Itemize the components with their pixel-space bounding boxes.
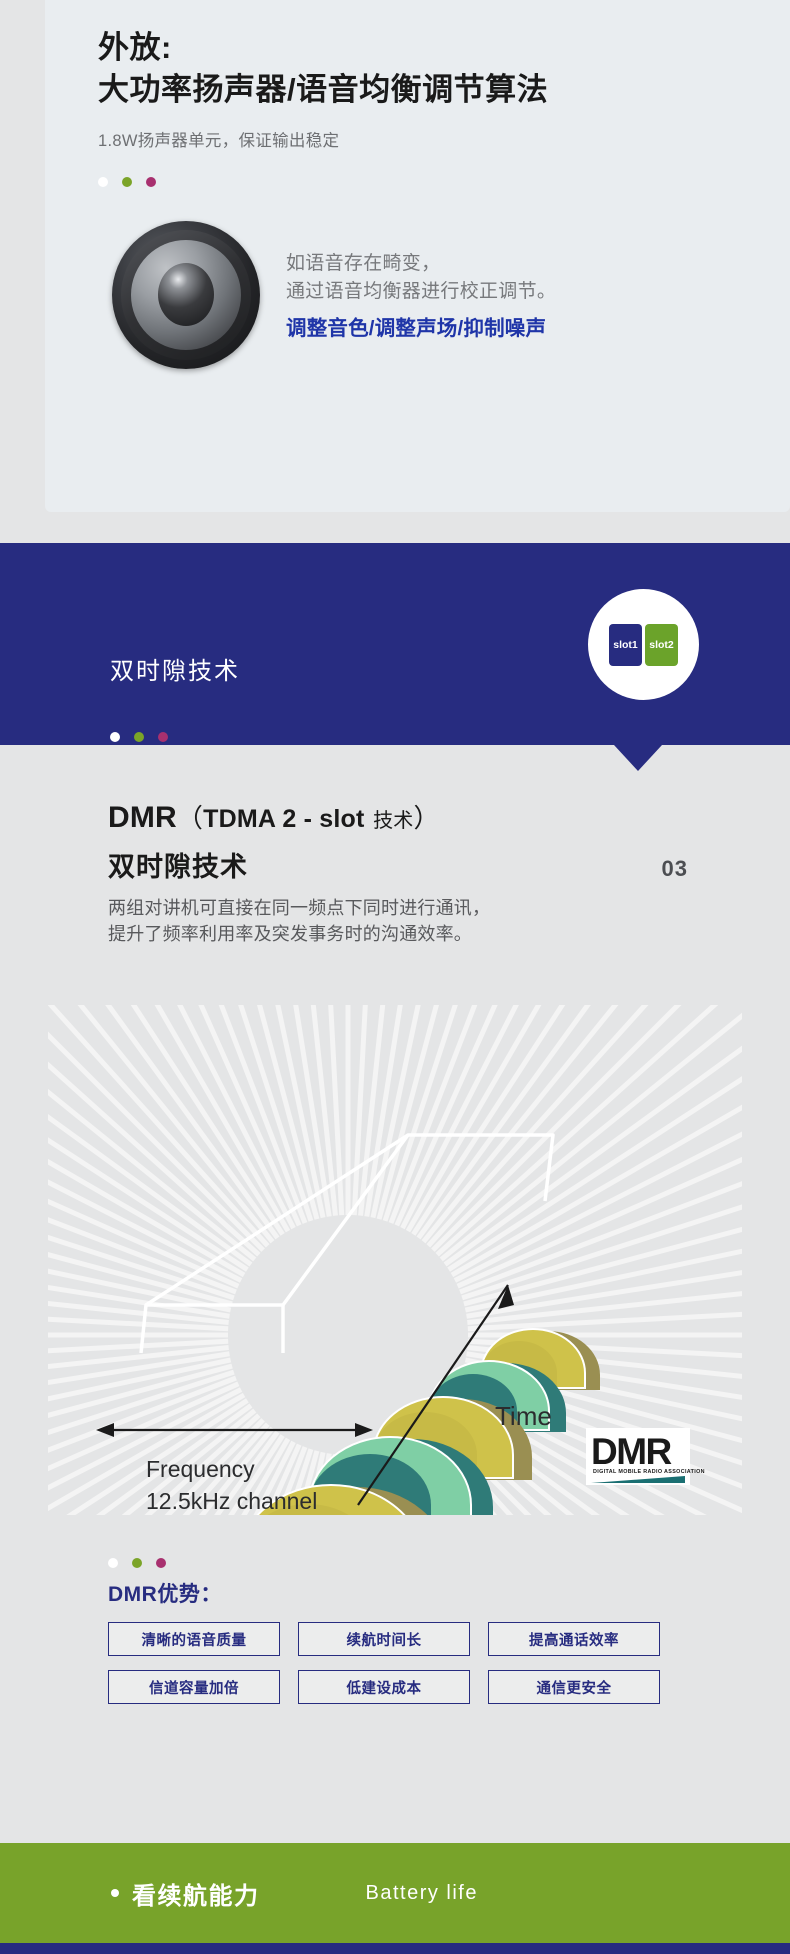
dmr-logo-tagline: DIGITAL MOBILE RADIO ASSOCIATION xyxy=(593,1469,705,1475)
dmr-logo: DMR DIGITAL MOBILE RADIO ASSOCIATION xyxy=(586,1428,705,1485)
loudspeaker-icon xyxy=(112,221,260,369)
tdma-slot-diagram: slot2 slot1 slot2 xyxy=(48,1005,742,1515)
dot-magenta-icon xyxy=(146,177,156,187)
speaker-subtitle: 1.8W扬声器单元，保证输出稳定 xyxy=(98,127,790,151)
battery-banner-label: 看续航能力 xyxy=(132,1876,260,1911)
tdma-diagram-svg: slot2 slot1 slot2 xyxy=(48,1005,742,1515)
dot-white-icon xyxy=(98,177,108,187)
dmr-title: DMR（TDMA 2 - slot 技术） xyxy=(108,798,688,835)
advantages-dot-indicators xyxy=(108,1558,166,1568)
slot-badge: slot1 slot2 xyxy=(588,589,699,700)
advantage-chip-2[interactable]: 续航时间长 xyxy=(298,1622,470,1656)
dmr-title-tdma: TDMA 2 - slot xyxy=(203,805,364,833)
dmr-logo-text: DMR xyxy=(591,1431,672,1472)
dmr-title-main: DMR xyxy=(108,801,177,834)
advantage-chip-1[interactable]: 清晰的语音质量 xyxy=(108,1622,280,1656)
bottom-blue-strip xyxy=(0,1943,790,1954)
battery-banner-english: Battery life xyxy=(366,1882,478,1905)
slot2-chip: slot2 xyxy=(645,624,678,666)
time-axis-label: Time xyxy=(495,1401,552,1431)
product-detail-page: 外放: 大功率扬声器/语音均衡调节算法 1.8W扬声器单元，保证输出稳定 如语音… xyxy=(0,0,790,1954)
speaker-title-line2: 大功率扬声器/语音均衡调节算法 xyxy=(98,70,790,110)
advantages-list: 清晰的语音质量 续航时间长 提高通话效率 信道容量加倍 低建设成本 通信更安全 xyxy=(108,1622,660,1704)
frequency-axis-label: Frequency xyxy=(146,1456,255,1482)
dmr-subheading: 双时隙技术 xyxy=(108,845,248,884)
speaker-feature-card: 外放: 大功率扬声器/语音均衡调节算法 1.8W扬声器单元，保证输出稳定 如语音… xyxy=(45,0,790,512)
frequency-axis-sublabel: 12.5kHz channel xyxy=(146,1488,317,1514)
banner-dot-indicators xyxy=(110,732,168,742)
dot-white-icon xyxy=(108,1558,118,1568)
dot-green-icon xyxy=(122,177,132,187)
dmr-paragraph-line1: 两组对讲机可直接在同一频点下同时进行通讯， xyxy=(108,895,688,921)
advantage-chip-4[interactable]: 信道容量加倍 xyxy=(108,1670,280,1704)
dmr-paragraph-line2: 提升了频率利用率及突发事务时的沟通效率。 xyxy=(108,921,688,947)
dmr-paren-open: （ xyxy=(177,803,203,833)
dmr-heading-block: DMR（TDMA 2 - slot 技术） 双时隙技术 03 两组对讲机可直接在… xyxy=(108,798,688,947)
advantage-chip-5[interactable]: 低建设成本 xyxy=(298,1670,470,1704)
advantage-chip-3[interactable]: 提高通话效率 xyxy=(488,1622,660,1656)
speaker-body-line1: 如语音存在畸变， xyxy=(286,250,556,279)
banner-pointer-icon xyxy=(614,745,662,771)
dmr-paren-close: ） xyxy=(413,803,439,833)
speaker-highlight: 调整音色/调整声场/抑制噪声 xyxy=(286,311,556,341)
dot-magenta-icon xyxy=(158,732,168,742)
dmr-title-tech: 技术 xyxy=(373,810,413,832)
dot-white-icon xyxy=(110,732,120,742)
slot1-chip: slot1 xyxy=(609,624,642,666)
dot-green-icon xyxy=(134,732,144,742)
bullet-icon xyxy=(111,1889,119,1897)
advantages-title: DMR优势： xyxy=(108,1578,222,1608)
speaker-body-line2: 通过语音均衡器进行校正调节。 xyxy=(286,278,556,307)
advantage-chip-6[interactable]: 通信更安全 xyxy=(488,1670,660,1704)
dot-green-icon xyxy=(132,1558,142,1568)
dot-magenta-icon xyxy=(156,1558,166,1568)
dual-timeslot-banner: 双时隙技术 slot1 slot2 xyxy=(0,543,790,745)
speaker-dot-indicators xyxy=(98,177,790,187)
section-number: 03 xyxy=(662,856,688,882)
banner-title: 双时隙技术 xyxy=(110,651,240,686)
speaker-title-line1: 外放: xyxy=(98,28,790,68)
battery-life-banner: 看续航能力 Battery life xyxy=(0,1843,790,1943)
